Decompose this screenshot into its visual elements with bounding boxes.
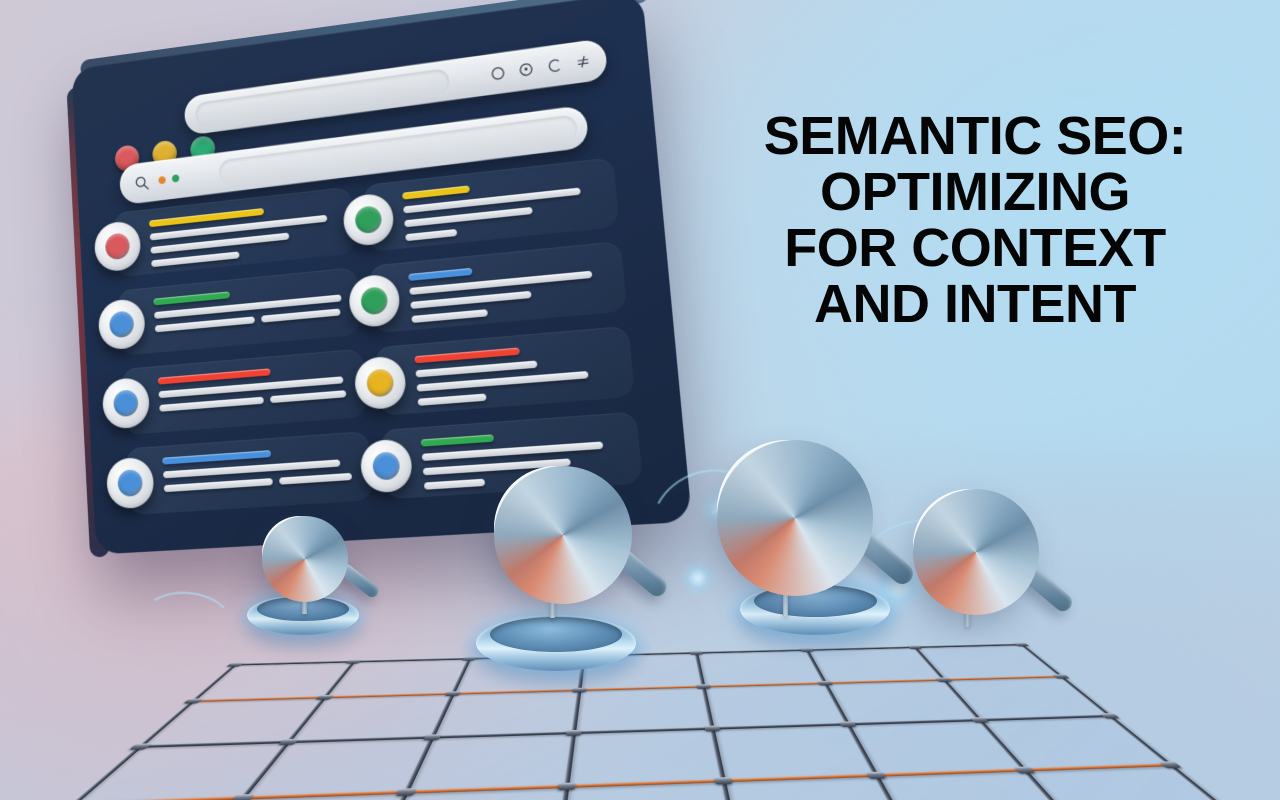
magnifier-handle [847, 525, 917, 589]
brain-icon [935, 519, 1006, 574]
magnifier-lens [262, 516, 338, 592]
light-spark [680, 560, 716, 596]
brain-icon [744, 476, 831, 544]
magnifier-stand [783, 576, 788, 616]
magnifier-3 [717, 440, 931, 620]
magnifier-handle [608, 543, 671, 600]
title-line-3: FOR CONTEXT [690, 220, 1260, 276]
brain-icon [277, 536, 324, 573]
hero-graphic: SEMANTIC SEO: OPTIMIZING FOR CONTEXT AND… [0, 0, 1280, 800]
magnifier-handle [337, 561, 381, 600]
magnifier-4 [913, 489, 1089, 633]
magnifier-lens [494, 466, 618, 590]
magnifier-2 [494, 466, 684, 624]
magnifier-handle [1016, 561, 1075, 615]
magnifier-lens [717, 440, 857, 580]
title-line-1: SEMANTIC SEO: [690, 108, 1260, 164]
title-line-2: OPTIMIZING [690, 164, 1260, 220]
page-title: SEMANTIC SEO: OPTIMIZING FOR CONTEXT AND… [690, 108, 1260, 333]
title-line-4: AND INTENT [690, 276, 1260, 332]
light-arc [137, 587, 237, 660]
brain-icon [518, 498, 595, 558]
magnifier-lens [913, 489, 1027, 603]
magnifier-1 [262, 516, 384, 618]
